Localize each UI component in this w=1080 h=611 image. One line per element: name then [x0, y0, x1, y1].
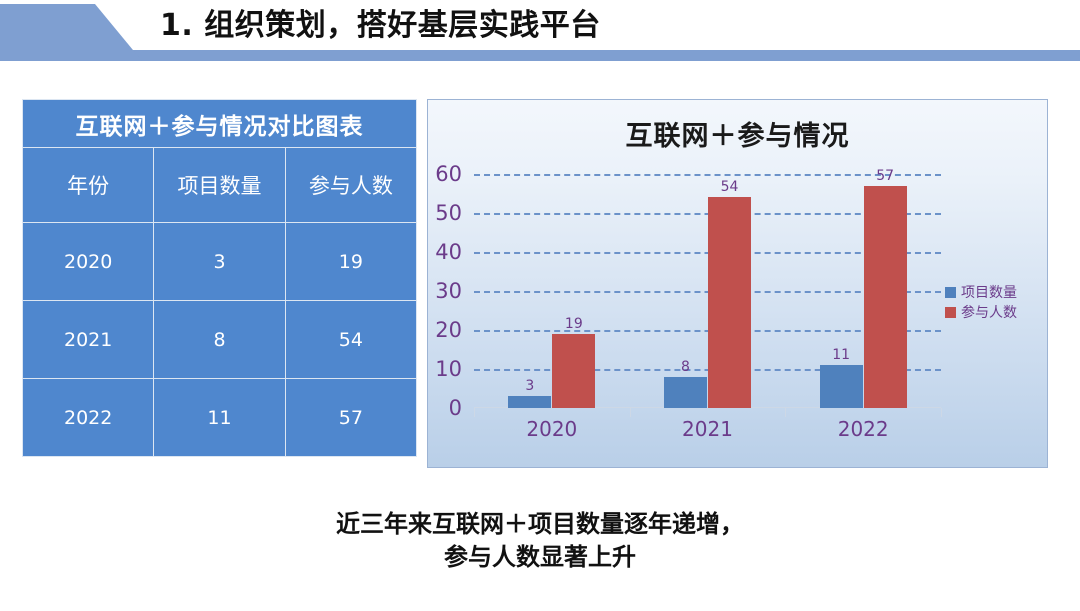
- header-accent-bar: [0, 50, 1080, 61]
- cell-participant-count: 54: [285, 301, 416, 379]
- chart-legend-item: 项目数量: [945, 282, 1037, 302]
- header-tab-shape: [0, 4, 145, 61]
- chart-bar: 8: [664, 377, 707, 408]
- cell-year: 2021: [23, 301, 154, 379]
- table-row: 2020 3 19: [23, 223, 417, 301]
- cell-project-count: 11: [154, 379, 285, 457]
- chart-y-tick-label: 30: [435, 279, 462, 303]
- cell-project-count: 8: [154, 301, 285, 379]
- cell-participant-count: 19: [285, 223, 416, 301]
- chart-x-tick-label: 2022: [785, 417, 941, 447]
- chart-x-axis-labels: 202020212022: [474, 417, 941, 447]
- column-header-project-count: 项目数量: [154, 148, 285, 223]
- chart-x-axis-tick: [941, 408, 942, 417]
- chart-bar-group: 319: [474, 174, 630, 408]
- chart-bar: 11: [820, 365, 863, 408]
- chart-legend-item: 参与人数: [945, 302, 1037, 322]
- chart-bar-value-label: 54: [721, 179, 739, 195]
- chart-bar: 57: [864, 186, 907, 408]
- chart-y-tick-label: 0: [449, 396, 462, 420]
- cell-participant-count: 57: [285, 379, 416, 457]
- chart-legend-label: 参与人数: [961, 302, 1017, 322]
- chart-x-axis-tick: [474, 408, 475, 417]
- bar-chart: 互联网＋参与情况 01020304050603198541157 2020202…: [427, 99, 1048, 468]
- chart-bar-value-label: 8: [681, 359, 690, 375]
- chart-y-tick-label: 60: [435, 162, 462, 186]
- chart-bar-group: 854: [630, 174, 786, 408]
- column-header-year: 年份: [23, 148, 154, 223]
- column-header-participant-count: 参与人数: [285, 148, 416, 223]
- caption-line-1: 近三年来互联网＋项目数量逐年递增，: [0, 508, 1080, 541]
- chart-bar: 54: [708, 197, 751, 408]
- chart-bar-value-label: 19: [565, 316, 583, 332]
- slide-caption: 近三年来互联网＋项目数量逐年递增， 参与人数显著上升: [0, 508, 1080, 574]
- chart-plot-area: 01020304050603198541157: [474, 174, 941, 408]
- chart-bar-value-label: 57: [876, 168, 894, 184]
- chart-y-tick-label: 20: [435, 318, 462, 342]
- chart-bar: 3: [508, 396, 551, 408]
- table-row: 2021 8 54: [23, 301, 417, 379]
- chart-bar-value-label: 11: [832, 347, 850, 363]
- legend-swatch-icon: [945, 307, 956, 318]
- chart-x-tick-label: 2020: [474, 417, 630, 447]
- legend-swatch-icon: [945, 287, 956, 298]
- caption-line-2: 参与人数显著上升: [0, 541, 1080, 574]
- chart-y-tick-label: 40: [435, 240, 462, 264]
- chart-bar-value-label: 3: [525, 378, 534, 394]
- comparison-table: 互联网＋参与情况对比图表 年份 项目数量 参与人数 2020 3 19 2021…: [22, 99, 417, 457]
- slide-header: 1. 组织策划，搭好基层实践平台: [0, 0, 1080, 68]
- chart-x-axis-tick: [630, 408, 631, 417]
- chart-y-tick-label: 10: [435, 357, 462, 381]
- cell-year: 2020: [23, 223, 154, 301]
- table-row: 2022 11 57: [23, 379, 417, 457]
- chart-bar: 19: [552, 334, 595, 408]
- chart-x-axis-tick: [785, 408, 786, 417]
- chart-y-tick-label: 50: [435, 201, 462, 225]
- table-title: 互联网＋参与情况对比图表: [23, 100, 417, 148]
- table-header-row: 年份 项目数量 参与人数: [23, 148, 417, 223]
- table-title-row: 互联网＋参与情况对比图表: [23, 100, 417, 148]
- page-title: 1. 组织策划，搭好基层实践平台: [160, 2, 601, 50]
- chart-bar-group: 1157: [785, 174, 941, 408]
- cell-project-count: 3: [154, 223, 285, 301]
- chart-legend-label: 项目数量: [961, 282, 1017, 302]
- chart-title: 互联网＋参与情况: [428, 114, 1047, 153]
- chart-legend: 项目数量参与人数: [945, 282, 1037, 322]
- cell-year: 2022: [23, 379, 154, 457]
- chart-x-tick-label: 2021: [630, 417, 786, 447]
